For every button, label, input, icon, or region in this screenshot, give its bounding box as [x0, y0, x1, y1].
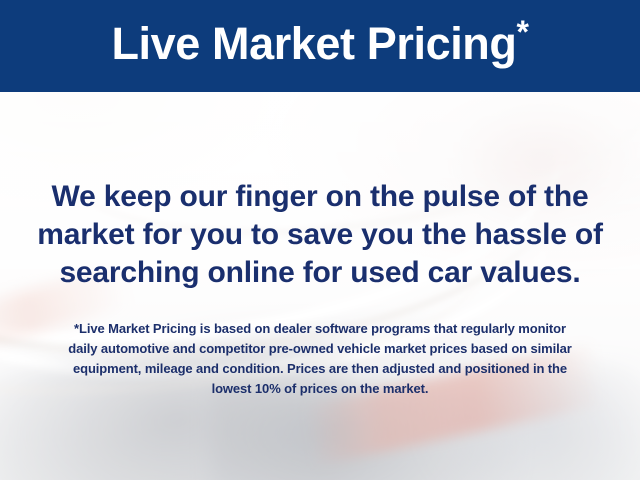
- headline-line-3: searching online for used car values.: [20, 254, 620, 292]
- page-title: Live Market Pricing*: [0, 16, 640, 72]
- page-title-asterisk: *: [516, 14, 528, 50]
- disclaimer-line-1: *Live Market Pricing is based on dealer …: [26, 319, 614, 339]
- headline-line-1: We keep our finger on the pulse of the: [20, 178, 620, 216]
- headline-line-2: market for you to save you the hassle of: [20, 216, 620, 254]
- live-market-pricing-banner: Live Market Pricing* We keep our finger …: [0, 0, 640, 480]
- disclaimer-line-2: daily automotive and competitor pre-owne…: [26, 339, 614, 359]
- disclaimer-line-3: equipment, mileage and condition. Prices…: [26, 359, 614, 379]
- disclaimer: *Live Market Pricing is based on dealer …: [26, 319, 614, 399]
- page-title-text: Live Market Pricing: [111, 18, 516, 69]
- headline: We keep our finger on the pulse of the m…: [20, 178, 620, 292]
- header-band: Live Market Pricing*: [0, 0, 640, 92]
- disclaimer-line-4: lowest 10% of prices on the market.: [26, 379, 614, 399]
